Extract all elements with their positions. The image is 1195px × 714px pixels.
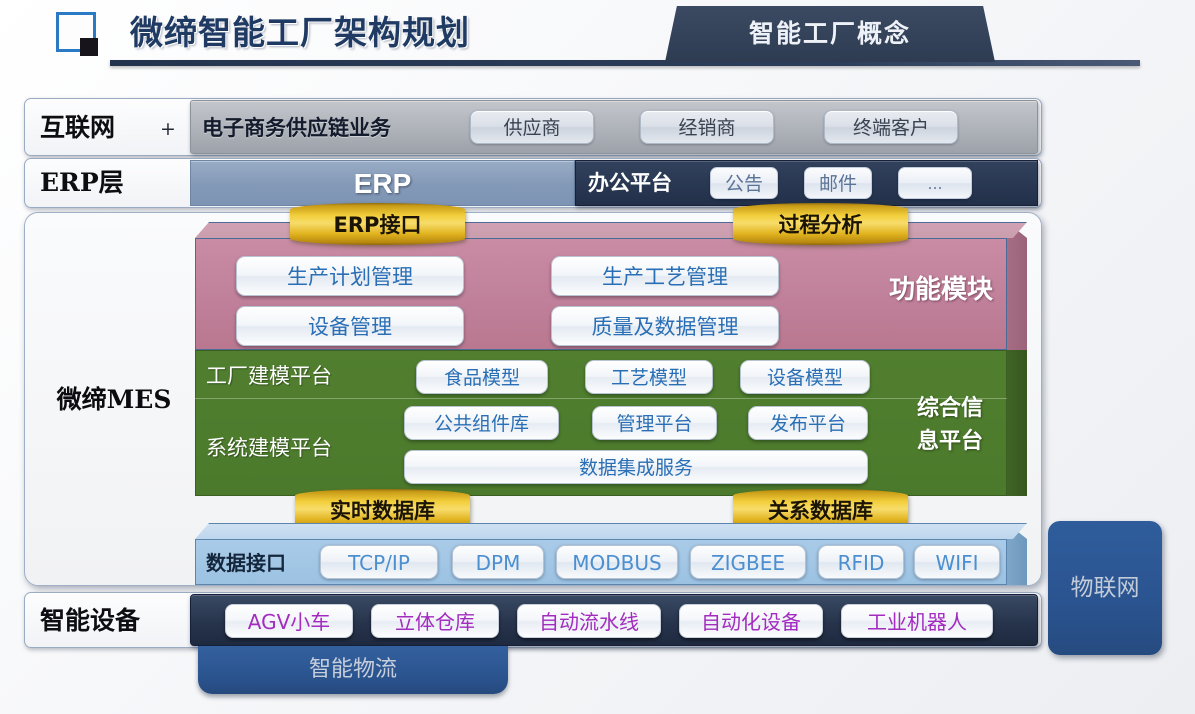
module-production-plan[interactable]: 生产计划管理: [236, 256, 464, 296]
system-item-data-integration-service[interactable]: 数据集成服务: [404, 450, 868, 484]
protocol-modbus[interactable]: MODBUS: [556, 545, 678, 579]
protocol-rfid[interactable]: RFID: [818, 545, 904, 579]
info-platform-label-line2: 息平台: [890, 425, 1010, 458]
info-platform-label-line1: 综合信: [890, 392, 1010, 425]
equipment-item-automation[interactable]: 自动化设备: [679, 604, 823, 638]
data-interface-label: 数据接口: [206, 548, 316, 578]
platform-divider: [195, 398, 1007, 399]
mes-label: 微缔MES: [44, 380, 184, 420]
info-platform-3d-side: [1007, 350, 1027, 496]
equipment-item-industrial-robot[interactable]: 工业机器人: [841, 604, 993, 638]
tab-smart-factory-concept[interactable]: 智能工厂概念: [665, 6, 995, 62]
office-platform-label: 办公平台: [588, 168, 708, 198]
weidi-logo-icon: [56, 12, 100, 56]
data-interface-3d-top: [195, 523, 1027, 539]
internet-item-end-customer[interactable]: 终端客户: [824, 110, 958, 144]
system-item-management-platform[interactable]: 管理平台: [592, 406, 717, 440]
logistics-tab[interactable]: 智能物流: [198, 646, 508, 694]
module-quality-data-management[interactable]: 质量及数据管理: [551, 306, 779, 346]
office-item-more[interactable]: …: [898, 167, 972, 199]
cylinder-process-analysis[interactable]: 过程分析: [733, 203, 908, 245]
info-platform-side-label: 综合信 息平台: [890, 392, 1010, 458]
tab-label: 智能工厂概念: [665, 6, 995, 62]
cylinder-label: 过程分析: [733, 203, 908, 245]
ecommerce-label: 电子商务供应链业务: [202, 112, 462, 144]
internet-plus-sign: +: [160, 116, 186, 142]
cylinder-label: ERP接口: [290, 203, 465, 245]
equipment-item-assembly-line[interactable]: 自动流水线: [517, 604, 661, 638]
header-bar: 微缔智能工厂架构规划 智能工厂概念: [0, 0, 1195, 78]
protocol-tcpip[interactable]: TCP/IP: [320, 545, 438, 579]
module-production-process[interactable]: 生产工艺管理: [551, 256, 779, 296]
factory-item-food-model[interactable]: 食品模型: [416, 360, 548, 394]
factory-modeling-platform-label: 工厂建模平台: [206, 360, 396, 392]
equipment-row-label: 智能设备: [40, 602, 190, 640]
system-item-component-library[interactable]: 公共组件库: [404, 406, 559, 440]
office-item-mail[interactable]: 邮件: [804, 167, 872, 199]
internet-item-supplier[interactable]: 供应商: [470, 110, 594, 144]
equipment-item-agv[interactable]: AGV小车: [225, 604, 353, 638]
protocol-zigbee[interactable]: ZIGBEE: [690, 545, 806, 579]
module-equipment-management[interactable]: 设备管理: [236, 306, 464, 346]
protocol-wifi[interactable]: WIFI: [914, 545, 1000, 579]
erp-system-block[interactable]: ERP: [190, 160, 575, 206]
erp-row-label: ERP层: [40, 165, 190, 201]
logo-square-solid: [80, 38, 98, 56]
iot-panel[interactable]: 物联网: [1048, 521, 1162, 655]
iot-panel-label: 物联网: [1048, 521, 1162, 655]
protocol-dpm[interactable]: DPM: [452, 545, 544, 579]
factory-item-equipment-model[interactable]: 设备模型: [740, 360, 870, 394]
factory-item-process-model[interactable]: 工艺模型: [585, 360, 713, 394]
function-module-side-label: 功能模块: [866, 270, 1016, 310]
system-modeling-platform-label: 系统建模平台: [206, 432, 396, 464]
office-item-announcement[interactable]: 公告: [710, 167, 778, 199]
system-item-publish-platform[interactable]: 发布平台: [748, 406, 868, 440]
page-title: 微缔智能工厂架构规划: [130, 8, 610, 58]
internet-item-distributor[interactable]: 经销商: [640, 110, 774, 144]
equipment-item-warehouse[interactable]: 立体仓库: [371, 604, 499, 638]
logistics-tab-label: 智能物流: [198, 646, 508, 694]
cylinder-erp-interface[interactable]: ERP接口: [290, 203, 465, 245]
erp-title: ERP: [191, 161, 574, 207]
